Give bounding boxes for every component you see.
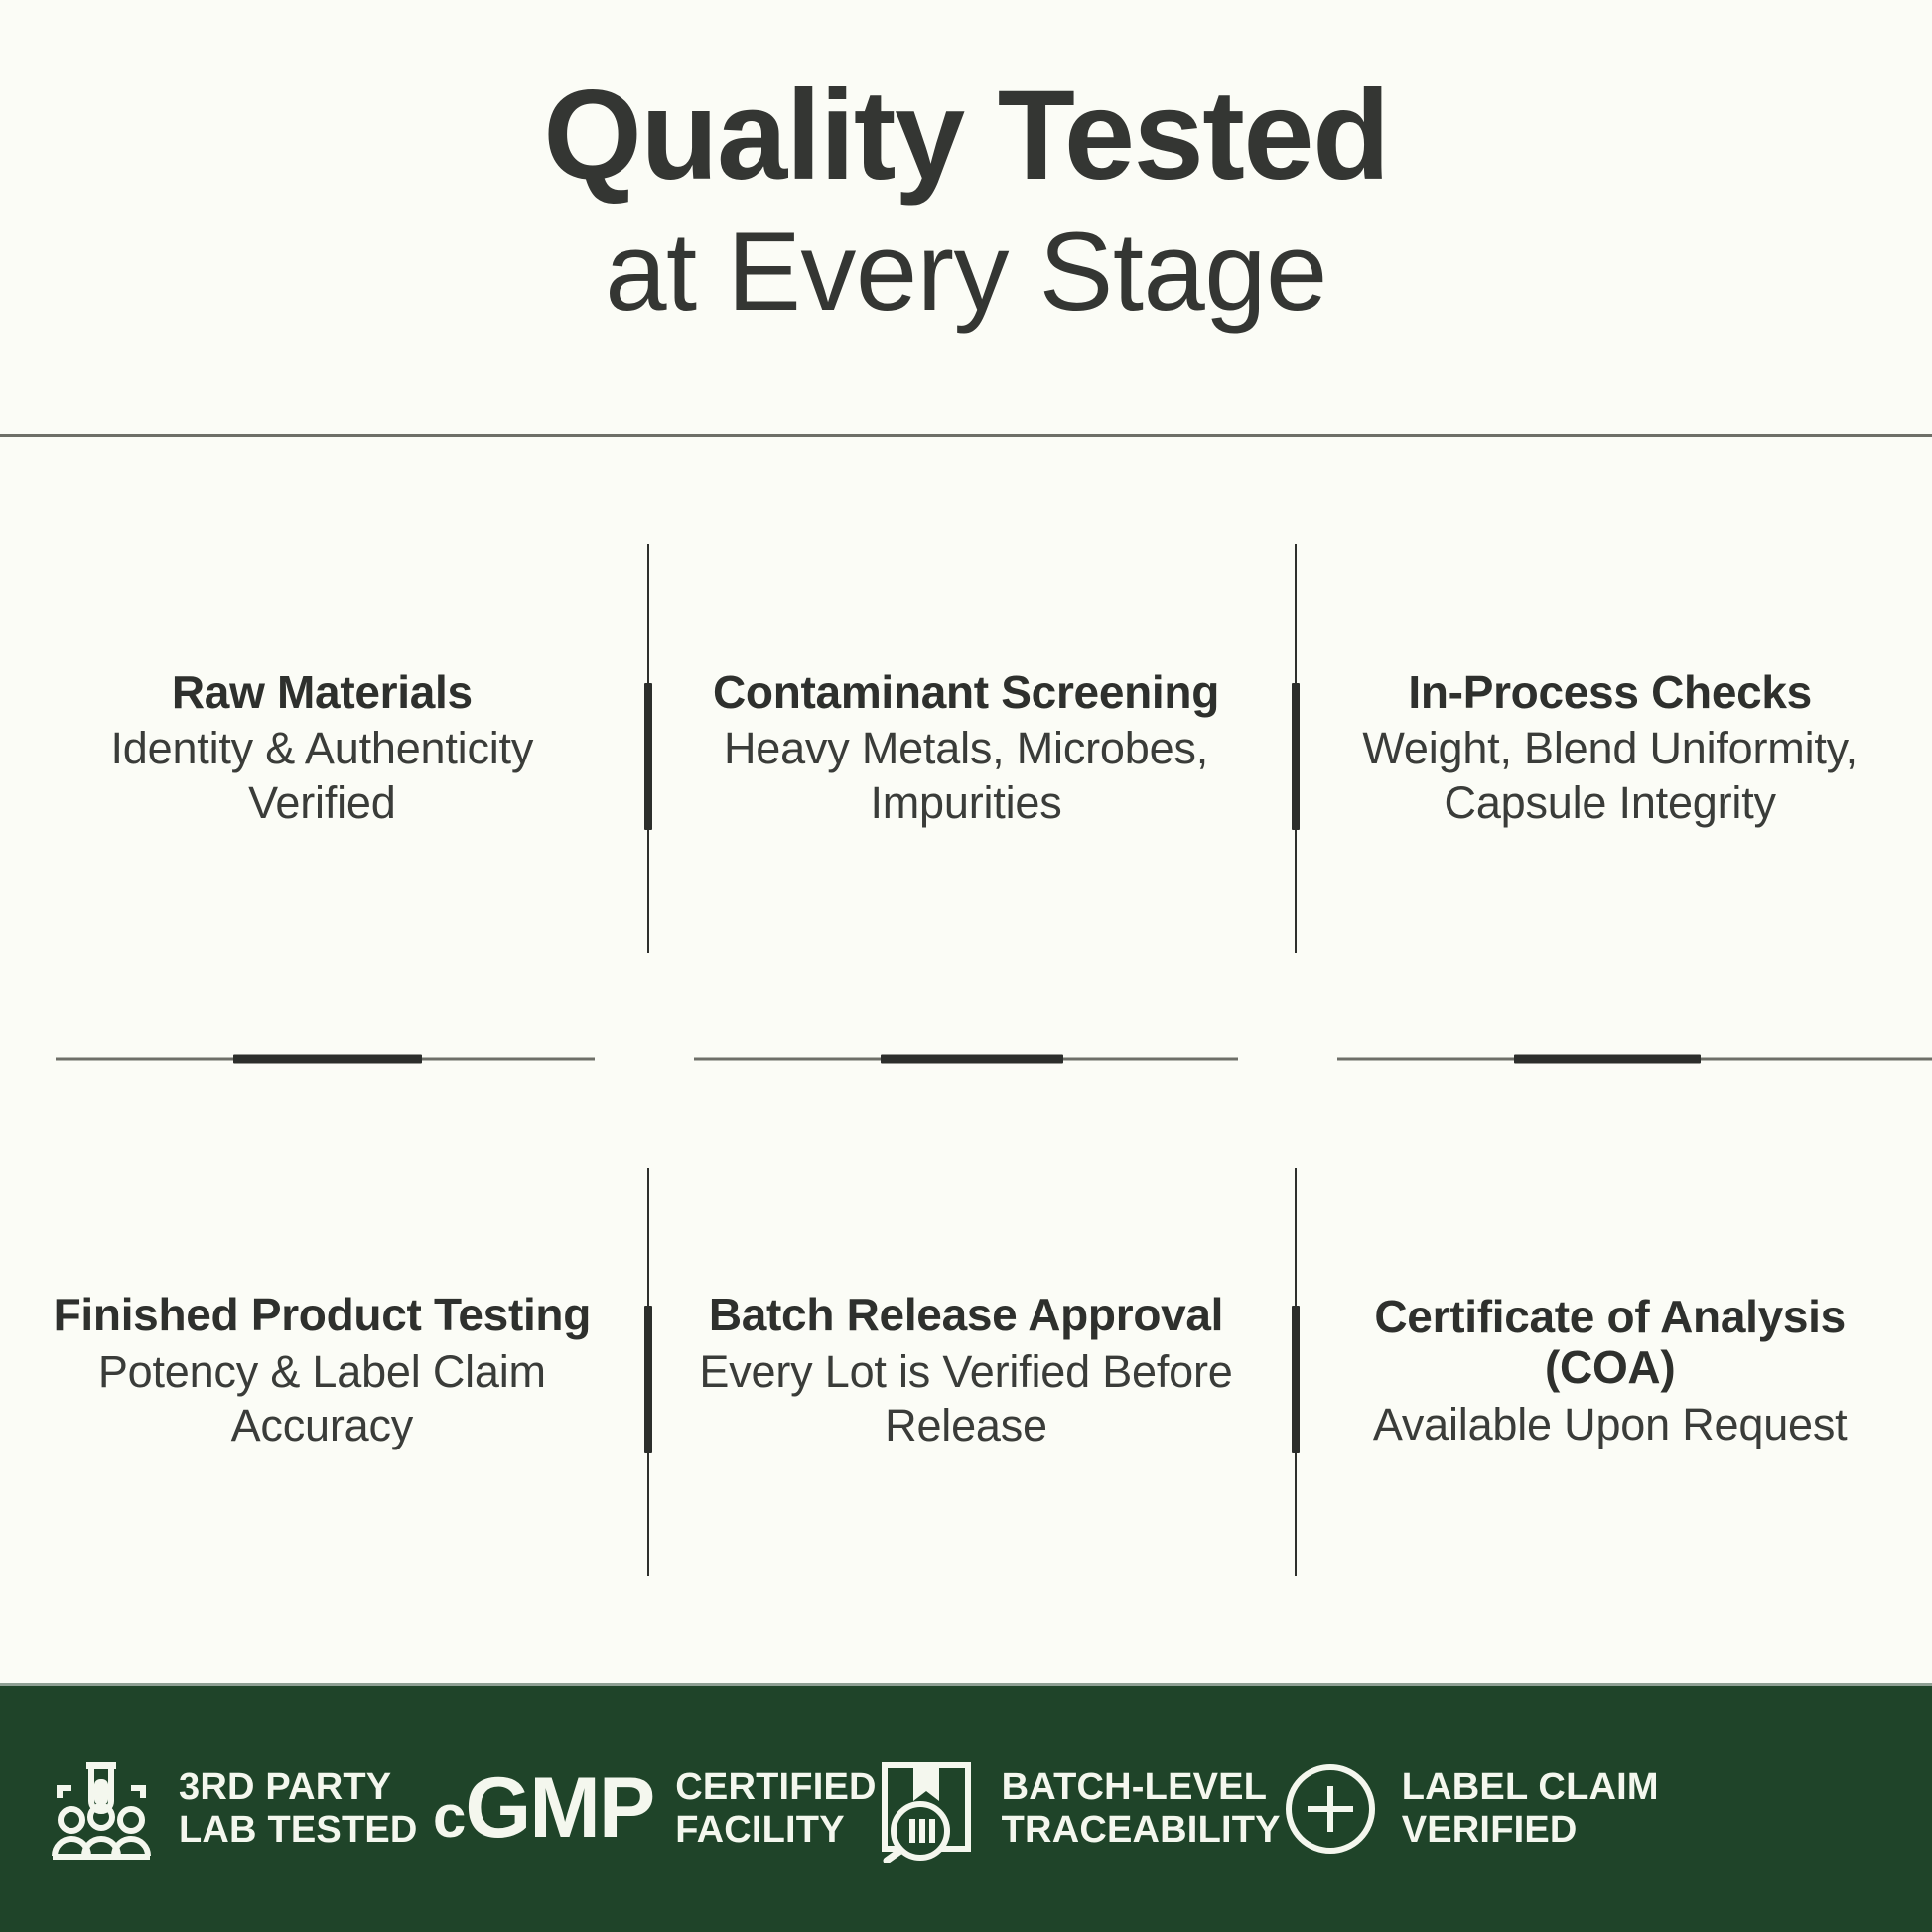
stage-card-raw-materials[interactable]: Raw Materials Identity & Authenticity Ve…: [0, 437, 644, 1060]
stage-grid-row-2: Finished Product Testing Potency & Label…: [0, 1060, 1932, 1684]
header: Quality Tested at Every Stage: [0, 0, 1932, 437]
horizontal-divider-band: [0, 1055, 1932, 1063]
badge-label: LABEL CLAIM VERIFIED: [1402, 1766, 1659, 1852]
badge-label-claim-verified[interactable]: LABEL CLAIM VERIFIED: [1281, 1759, 1659, 1859]
stage-title: Raw Materials: [172, 667, 473, 719]
trust-badge-bar: 3RD PARTY LAB TESTED cGMP CERTIFIED FACI…: [0, 1683, 1932, 1932]
stage-description: Every Lot is Verified Before Release: [686, 1345, 1247, 1453]
vertical-divider-3: [647, 1168, 649, 1577]
stage-card-batch-release-approval[interactable]: Batch Release Approval Every Lot is Veri…: [644, 1060, 1289, 1684]
badge-label-line1: LABEL CLAIM: [1402, 1766, 1659, 1808]
horizontal-divider-segment-3: [1288, 1055, 1932, 1063]
stage-description: Heavy Metals, Microbes, Impurities: [686, 722, 1247, 830]
test-tube-people-icon: [46, 1754, 157, 1863]
stage-description: Identity & Authenticity Verified: [42, 722, 603, 830]
stage-title: Batch Release Approval: [709, 1290, 1223, 1341]
badge-label: BATCH-LEVEL TRACEABILITY: [1002, 1766, 1281, 1852]
stage-grid: Raw Materials Identity & Authenticity Ve…: [0, 437, 1932, 1683]
circle-plus-icon: [1281, 1759, 1380, 1859]
divider-accent: [1514, 1054, 1701, 1063]
stage-card-finished-product-testing[interactable]: Finished Product Testing Potency & Label…: [0, 1060, 644, 1684]
stage-description: Potency & Label Claim Accuracy: [42, 1345, 603, 1453]
stage-description: Available Upon Request: [1373, 1398, 1848, 1451]
stage-card-certificate-of-analysis[interactable]: Certificate of Analysis (COA) Available …: [1288, 1060, 1932, 1684]
stage-title: Certificate of Analysis (COA): [1329, 1292, 1890, 1394]
stage-title: Contaminant Screening: [713, 667, 1219, 719]
box-magnifier-icon: [877, 1755, 980, 1863]
badge-label-line1: BATCH-LEVEL: [1002, 1766, 1267, 1808]
badge-batch-level-traceability[interactable]: BATCH-LEVEL TRACEABILITY: [877, 1755, 1281, 1863]
horizontal-divider-segment-1: [0, 1055, 644, 1063]
badge-label-line1: 3RD PARTY: [179, 1766, 391, 1808]
cgmp-wordmark-c: c: [433, 1783, 465, 1850]
page-title-secondary: at Every Stage: [605, 205, 1327, 341]
badge-third-party-lab-tested[interactable]: 3RD PARTY LAB TESTED: [46, 1754, 433, 1863]
infographic-root: Quality Tested at Every Stage Raw Materi…: [0, 0, 1932, 1932]
badge-label-line2: FACILITY: [675, 1809, 845, 1851]
stage-title: Finished Product Testing: [54, 1290, 591, 1341]
badge-label: CERTIFIED FACILITY: [675, 1766, 876, 1852]
divider-accent: [881, 1054, 1063, 1063]
vertical-divider-1: [647, 544, 649, 953]
stage-grid-row-1: Raw Materials Identity & Authenticity Ve…: [0, 437, 1932, 1060]
cgmp-wordmark: cGMP: [433, 1768, 653, 1850]
page-title-primary: Quality Tested: [543, 68, 1389, 205]
stage-title: In-Process Checks: [1408, 667, 1812, 719]
badge-label-line2: VERIFIED: [1402, 1809, 1578, 1851]
badge-cgmp-certified-facility[interactable]: cGMP CERTIFIED FACILITY: [433, 1766, 877, 1852]
horizontal-divider-segment-2: [644, 1055, 1289, 1063]
divider-accent: [233, 1054, 422, 1063]
cgmp-wordmark-gmp: GMP: [465, 1760, 653, 1856]
vertical-divider-4: [1295, 1168, 1297, 1577]
vertical-divider-2: [1295, 544, 1297, 953]
badge-label-line2: LAB TESTED: [179, 1809, 418, 1851]
badge-label: 3RD PARTY LAB TESTED: [179, 1766, 418, 1852]
stage-card-in-process-checks[interactable]: In-Process Checks Weight, Blend Uniformi…: [1288, 437, 1932, 1060]
badge-label-line2: TRACEABILITY: [1002, 1809, 1281, 1851]
stage-description: Weight, Blend Uniformity, Capsule Integr…: [1329, 722, 1890, 830]
stage-card-contaminant-screening[interactable]: Contaminant Screening Heavy Metals, Micr…: [644, 437, 1289, 1060]
badge-label-line1: CERTIFIED: [675, 1766, 876, 1808]
